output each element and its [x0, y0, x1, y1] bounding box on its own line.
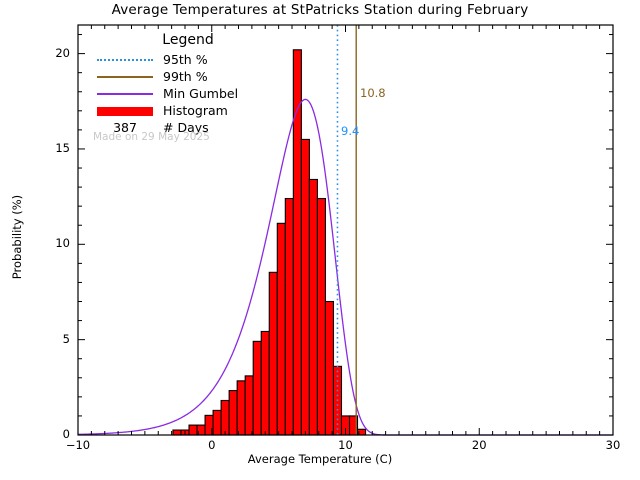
x-tick-label: 10 — [326, 438, 366, 452]
min-gumbel-curve — [78, 99, 613, 435]
y-tick-label: 20 — [30, 46, 70, 60]
histogram-bar — [237, 381, 245, 435]
histogram-bar — [229, 391, 237, 435]
x-tick-label: 0 — [192, 438, 232, 452]
x-tick-label: −10 — [58, 438, 98, 452]
histogram-bar — [317, 199, 325, 435]
legend-label-histogram: Histogram — [163, 103, 228, 118]
y-tick-label: 10 — [30, 236, 70, 250]
legend: Legend 95th % 99th % Min Gumbel Histogra… — [95, 32, 310, 136]
legend-label-99th: 99th % — [163, 69, 208, 84]
histogram-bar — [253, 341, 261, 435]
histogram-bar — [301, 139, 309, 435]
legend-item-95th: 95th % — [95, 51, 310, 68]
legend-item-min-gumbel: Min Gumbel — [95, 85, 310, 102]
legend-swatch-95th-icon — [95, 53, 155, 67]
legend-swatch-min-gumbel-icon — [95, 87, 155, 101]
histogram-bar — [309, 179, 317, 435]
legend-item-99th: 99th % — [95, 68, 310, 85]
percentile-95-label: 9.4 — [341, 124, 359, 138]
y-axis-label: Probability (%) — [10, 157, 24, 317]
y-tick-label: 5 — [30, 332, 70, 346]
made-on-annotation: Made on 29 May 2025 — [93, 131, 210, 143]
legend-item-histogram: Histogram — [95, 102, 310, 119]
legend-title: Legend — [113, 32, 263, 48]
x-axis-label: Average Temperature (C) — [0, 452, 640, 466]
histogram-bar — [189, 425, 197, 435]
legend-swatch-99th-icon — [95, 70, 155, 84]
histogram-bar — [325, 302, 333, 435]
x-tick-label: 20 — [459, 438, 499, 452]
histogram-bar — [261, 331, 269, 435]
histogram-bar — [245, 376, 253, 435]
y-tick-label: 15 — [30, 141, 70, 155]
x-tick-label: 30 — [593, 438, 633, 452]
chart-figure: Average Temperatures at StPatricks Stati… — [0, 0, 640, 480]
histogram-bar — [173, 430, 181, 435]
legend-label-min-gumbel: Min Gumbel — [163, 86, 238, 101]
percentile-99-label: 10.8 — [360, 86, 386, 100]
histogram-bar — [269, 272, 277, 435]
histogram-bar — [221, 400, 229, 435]
histogram-bar — [277, 223, 285, 435]
legend-label-95th: 95th % — [163, 52, 208, 67]
histogram-bar — [213, 410, 221, 435]
legend-swatch-histogram-icon — [95, 104, 155, 118]
histogram-bar — [285, 199, 293, 435]
